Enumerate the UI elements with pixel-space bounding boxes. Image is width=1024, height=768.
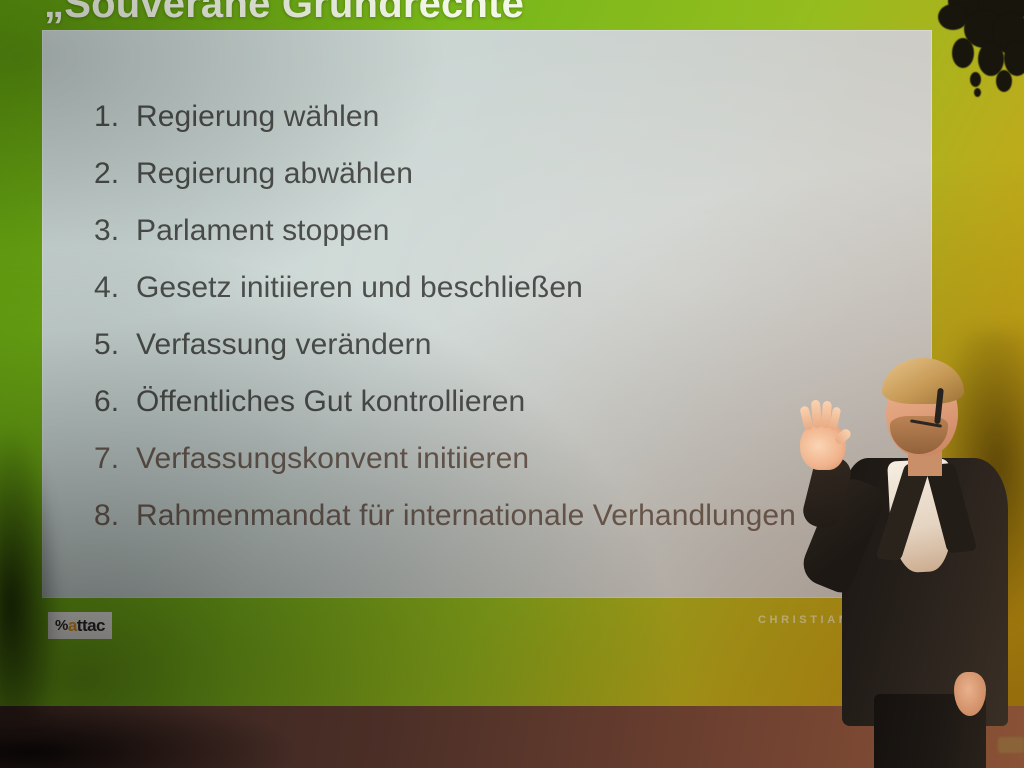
- slide-title: „Souveräne Grundrechte: [44, 0, 524, 27]
- chandelier-icon: [930, 0, 1024, 116]
- speaker-figure: [786, 352, 1024, 768]
- list-item-label: Verfassungskonvent initiieren: [136, 444, 529, 474]
- attac-logo-accent: a: [68, 617, 77, 634]
- list-item-number: 8.: [94, 501, 136, 531]
- list-item-label: Gesetz initiieren und beschließen: [136, 273, 583, 303]
- list-item-label: Parlament stoppen: [136, 216, 390, 246]
- background-object: [998, 737, 1024, 753]
- list-item: 1. Regierung wählen: [94, 102, 924, 132]
- list-item-number: 1.: [94, 102, 136, 132]
- list-item-number: 4.: [94, 273, 136, 303]
- screen-shadow-left: [0, 430, 60, 720]
- hair: [882, 358, 964, 404]
- list-item: 3. Parlament stoppen: [94, 216, 924, 246]
- list-item-label: Rahmenmandat für internationale Verhandl…: [136, 501, 796, 531]
- list-item-label: Regierung wählen: [136, 102, 379, 132]
- list-item-number: 3.: [94, 216, 136, 246]
- list-item-label: Verfassung verändern: [136, 330, 432, 360]
- list-item-label: Regierung abwählen: [136, 159, 413, 189]
- list-item-label: Öffentliches Gut kontrollieren: [136, 387, 525, 417]
- list-item-number: 2.: [94, 159, 136, 189]
- attac-logo-text: ttac: [77, 617, 105, 634]
- list-item-number: 7.: [94, 444, 136, 474]
- list-item-number: 6.: [94, 387, 136, 417]
- list-item-number: 5.: [94, 330, 136, 360]
- list-item: 2. Regierung abwählen: [94, 159, 924, 189]
- list-item: 4. Gesetz initiieren und beschließen: [94, 273, 924, 303]
- photo-scene: „Souveräne Grundrechte 1. Regierung wähl…: [0, 0, 1024, 768]
